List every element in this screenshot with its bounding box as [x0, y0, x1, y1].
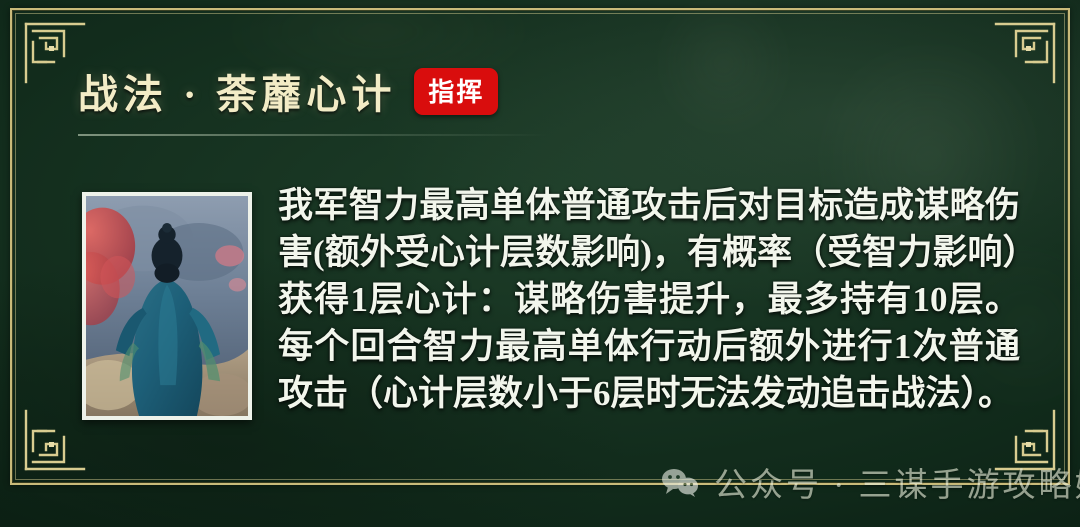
corner-ornament-bottom-left [24, 409, 86, 471]
title-divider [78, 134, 548, 136]
corner-ornament-top-right [994, 22, 1056, 84]
character-portrait[interactable] [82, 192, 252, 420]
status-badge: 指挥 [414, 68, 498, 115]
skill-card-screen: 战法 · 荼蘼心计 指挥 [0, 0, 1080, 527]
page-title: 战法 · 荼蘼心计 [78, 62, 396, 120]
watermark-label: 公众号 · 三谋手游攻略姬 [714, 458, 1080, 506]
corner-ornament-top-left [24, 22, 86, 84]
skill-description: 我军智力最高单体普通攻击后对目标造成谋略伤害(额外受心计层数影响)，有概率（受智… [278, 182, 1020, 417]
skill-title-row: 战法 · 荼蘼心计 指挥 [78, 62, 498, 120]
watermark: 公众号 · 三谋手游攻略姬 [660, 458, 1080, 506]
wechat-icon [660, 467, 702, 497]
